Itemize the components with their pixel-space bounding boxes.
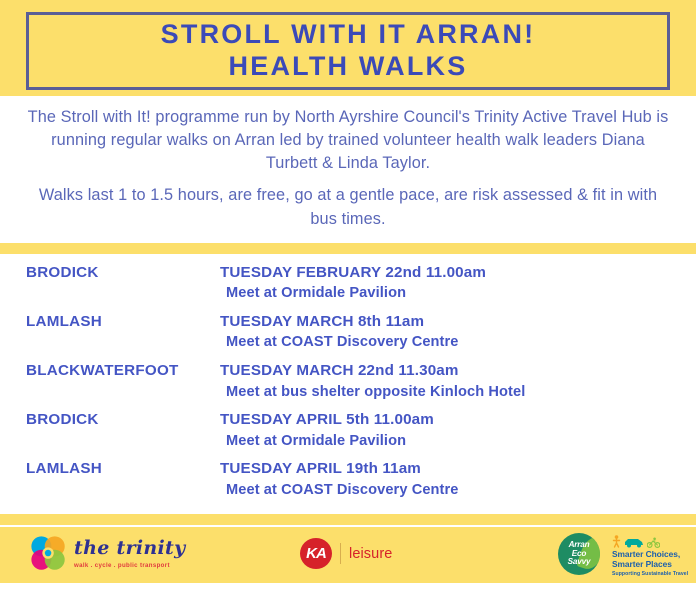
- walks-list: BRODICK TUESDAY FEBRUARY 22nd 11.00am Me…: [0, 254, 696, 514]
- ka-mark: KA: [300, 538, 332, 569]
- walk-when: TUESDAY APRIL 19th 11am: [220, 459, 696, 480]
- table-row: BRODICK TUESDAY FEBRUARY 22nd 11.00am Me…: [0, 263, 696, 304]
- walk-when: TUESDAY APRIL 5th 11.00am: [220, 410, 696, 431]
- header-band: STROLL WITH IT ARRAN! HEALTH WALKS: [0, 0, 696, 96]
- walk-meet: Meet at COAST Discovery Centre: [220, 332, 696, 352]
- ka-leisure-logo: KA leisure: [300, 538, 392, 569]
- footer-logo-band: the trinity walk . cycle . public transp…: [0, 527, 696, 583]
- walk-details: TUESDAY APRIL 19th 11am Meet at COAST Di…: [220, 459, 696, 500]
- walk-meet: Meet at COAST Discovery Centre: [220, 480, 696, 500]
- trinity-logo: the trinity walk . cycle . public transp…: [28, 534, 185, 574]
- walk-place: LAMLASH: [26, 459, 220, 480]
- title-box: STROLL WITH IT ARRAN! HEALTH WALKS: [26, 12, 670, 90]
- walk-when: TUESDAY MARCH 8th 11am: [220, 312, 696, 333]
- scsp-subtitle: Supporting Sustainable Travel: [612, 571, 692, 577]
- walk-meet: Meet at Ormidale Pavilion: [220, 431, 696, 451]
- walk-when: TUESDAY FEBRUARY 22nd 11.00am: [220, 263, 696, 284]
- walk-place: BRODICK: [26, 410, 220, 431]
- walker-icon: [612, 535, 621, 548]
- page-title-line1: STROLL WITH IT ARRAN!: [161, 19, 536, 51]
- trinity-name: the trinity: [74, 537, 185, 559]
- intro-section: The Stroll with It! programme run by Nor…: [0, 96, 696, 243]
- trinity-triquetra-icon: [28, 534, 70, 574]
- table-row: BLACKWATERFOOT TUESDAY MARCH 22nd 11.30a…: [0, 361, 696, 402]
- ka-leisure-label: leisure: [349, 546, 392, 562]
- eco-wordmark: Arran Eco Savvy: [568, 541, 591, 568]
- trinity-wordmark: the trinity walk . cycle . public transp…: [74, 539, 185, 569]
- eco-circle-icon: Arran Eco Savvy: [558, 533, 600, 575]
- table-row: LAMLASH TUESDAY APRIL 19th 11am Meet at …: [0, 459, 696, 500]
- trinity-tagline: walk . cycle . public transport: [74, 562, 185, 569]
- poster-root: STROLL WITH IT ARRAN! HEALTH WALKS The S…: [0, 0, 696, 583]
- car-icon: [624, 537, 644, 548]
- cyclist-icon: [647, 537, 660, 548]
- walk-when: TUESDAY MARCH 22nd 11.30am: [220, 361, 696, 382]
- arran-eco-savvy-logo: Arran Eco Savvy: [558, 533, 600, 575]
- walk-details: TUESDAY MARCH 8th 11am Meet at COAST Dis…: [220, 312, 696, 353]
- walk-meet: Meet at Ormidale Pavilion: [220, 283, 696, 303]
- divider-top: [0, 243, 696, 254]
- scsp-icon-strip: [612, 535, 692, 548]
- eco-line-3: Savvy: [568, 558, 591, 567]
- walk-place: LAMLASH: [26, 312, 220, 333]
- ka-circle-icon: KA: [300, 538, 332, 569]
- smarter-choices-logo: Smarter Choices, Smarter Places Supporti…: [612, 535, 692, 577]
- walk-place: BRODICK: [26, 263, 220, 284]
- page-title-line2: HEALTH WALKS: [229, 51, 468, 83]
- walk-meet: Meet at bus shelter opposite Kinloch Hot…: [220, 382, 696, 402]
- ka-divider: [340, 543, 341, 564]
- intro-paragraph-2: Walks last 1 to 1.5 hours, are free, go …: [24, 184, 672, 230]
- walk-details: TUESDAY MARCH 22nd 11.30am Meet at bus s…: [220, 361, 696, 402]
- table-row: BRODICK TUESDAY APRIL 5th 11.00am Meet a…: [0, 410, 696, 451]
- walk-place: BLACKWATERFOOT: [26, 361, 220, 382]
- table-row: LAMLASH TUESDAY MARCH 8th 11am Meet at C…: [0, 312, 696, 353]
- walk-details: TUESDAY FEBRUARY 22nd 11.00am Meet at Or…: [220, 263, 696, 304]
- scsp-title-line-2: Smarter Places: [612, 560, 692, 570]
- walk-details: TUESDAY APRIL 5th 11.00am Meet at Ormida…: [220, 410, 696, 451]
- intro-paragraph-1: The Stroll with It! programme run by Nor…: [24, 106, 672, 175]
- divider-bottom: [0, 514, 696, 525]
